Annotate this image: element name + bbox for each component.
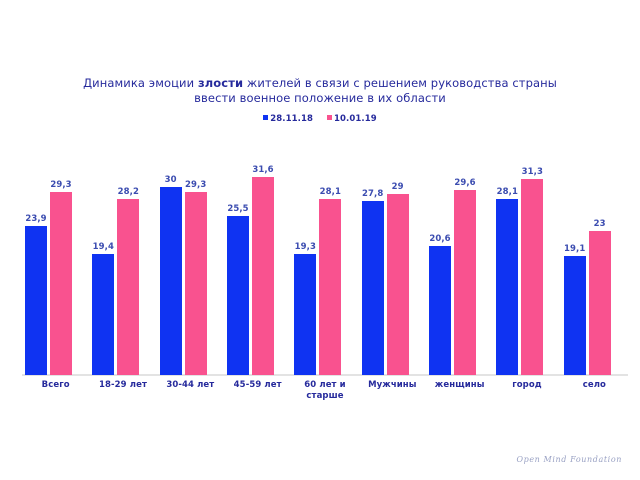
bar-series2[interactable]: 31,3 — [521, 179, 543, 375]
category-label: Мужчины — [358, 380, 426, 391]
category-label: город — [493, 380, 561, 391]
category-label: 30-44 лет — [156, 380, 224, 391]
bar-series1[interactable]: 30 — [160, 187, 182, 375]
bar-series2[interactable]: 23 — [589, 231, 611, 375]
bar-series2[interactable]: 28,1 — [319, 199, 341, 375]
category-label: женщины — [426, 380, 494, 391]
legend-label: 10.01.19 — [334, 114, 377, 124]
bar-group: 23,929,3 — [22, 150, 89, 375]
bar-value-label: 31,6 — [248, 165, 278, 175]
bar-series1[interactable]: 19,4 — [92, 254, 114, 375]
bar-value-label: 28,2 — [113, 187, 143, 197]
bar-group: 19,328,1 — [291, 150, 358, 375]
bar-series2[interactable]: 29,3 — [50, 192, 72, 375]
bar-value-label: 29,3 — [181, 180, 211, 190]
bar-value-label: 29 — [383, 182, 413, 192]
bar-series1[interactable]: 27,8 — [362, 201, 384, 375]
bar-group: 19,123 — [561, 150, 628, 375]
bar-value-label: 23,9 — [21, 214, 51, 224]
legend-label: 28.11.18 — [270, 114, 313, 124]
bar-series2[interactable]: 29,6 — [454, 190, 476, 375]
chart-title-line1-prefix: Динамика эмоции — [83, 76, 198, 90]
bar-group: 20,629,6 — [426, 150, 493, 375]
category-label: 60 лет и старше — [291, 380, 359, 402]
plot-area: 23,929,319,428,23029,325,531,619,328,127… — [22, 150, 628, 375]
category-label: 18-29 лет — [89, 380, 157, 391]
bar-group: 27,829 — [359, 150, 426, 375]
bar-value-label: 31,3 — [517, 167, 547, 177]
category-axis-labels: Всего18-29 лет30-44 лет45-59 лет60 лет и… — [22, 380, 628, 420]
chart-title-emphasis: злости — [198, 76, 243, 90]
footer-credit: Open Mind Foundation — [516, 455, 622, 464]
bar-series2[interactable]: 31,6 — [252, 177, 274, 375]
legend-swatch-icon — [263, 115, 268, 120]
bar-series2[interactable]: 29,3 — [185, 192, 207, 375]
bar-value-label: 29,6 — [450, 178, 480, 188]
bar-value-label: 29,3 — [46, 180, 76, 190]
legend-item-2[interactable]: 10.01.19 — [327, 114, 377, 124]
slide-canvas: Динамика эмоции злости жителей в связи с… — [0, 0, 640, 480]
bar-value-label: 19,4 — [88, 242, 118, 252]
bar-series1[interactable]: 25,5 — [227, 216, 249, 375]
chart-title-line1-suffix: жителей в связи с решением руководства с… — [243, 76, 557, 90]
category-label: 45-59 лет — [224, 380, 292, 391]
chart-title: Динамика эмоции злости жителей в связи с… — [60, 76, 580, 106]
bar-group: 3029,3 — [157, 150, 224, 375]
bar-series2[interactable]: 29 — [387, 194, 409, 375]
bar-value-label: 19,1 — [560, 244, 590, 254]
bar-value-label: 28,1 — [315, 187, 345, 197]
chart-legend: 28.11.1810.01.19 — [0, 114, 640, 124]
bar-group: 25,531,6 — [224, 150, 291, 375]
category-label: село — [560, 380, 628, 391]
bar-value-label: 25,5 — [223, 204, 253, 214]
bar-series1[interactable]: 20,6 — [429, 246, 451, 375]
chart-title-line2: ввести военное положение в их области — [194, 91, 446, 105]
bar-series2[interactable]: 28,2 — [117, 199, 139, 375]
bar-group: 19,428,2 — [89, 150, 156, 375]
legend-item-1[interactable]: 28.11.18 — [263, 114, 313, 124]
bar-series1[interactable]: 23,9 — [25, 226, 47, 375]
bar-value-label: 20,6 — [425, 234, 455, 244]
legend-swatch-icon — [327, 115, 332, 120]
bar-series1[interactable]: 19,1 — [564, 256, 586, 375]
bar-series1[interactable]: 19,3 — [294, 254, 316, 375]
bar-value-label: 28,1 — [492, 187, 522, 197]
category-label: Всего — [22, 380, 90, 391]
bar-group: 28,131,3 — [493, 150, 560, 375]
bar-value-label: 19,3 — [290, 242, 320, 252]
bar-series1[interactable]: 28,1 — [496, 199, 518, 375]
bar-value-label: 23 — [585, 219, 615, 229]
